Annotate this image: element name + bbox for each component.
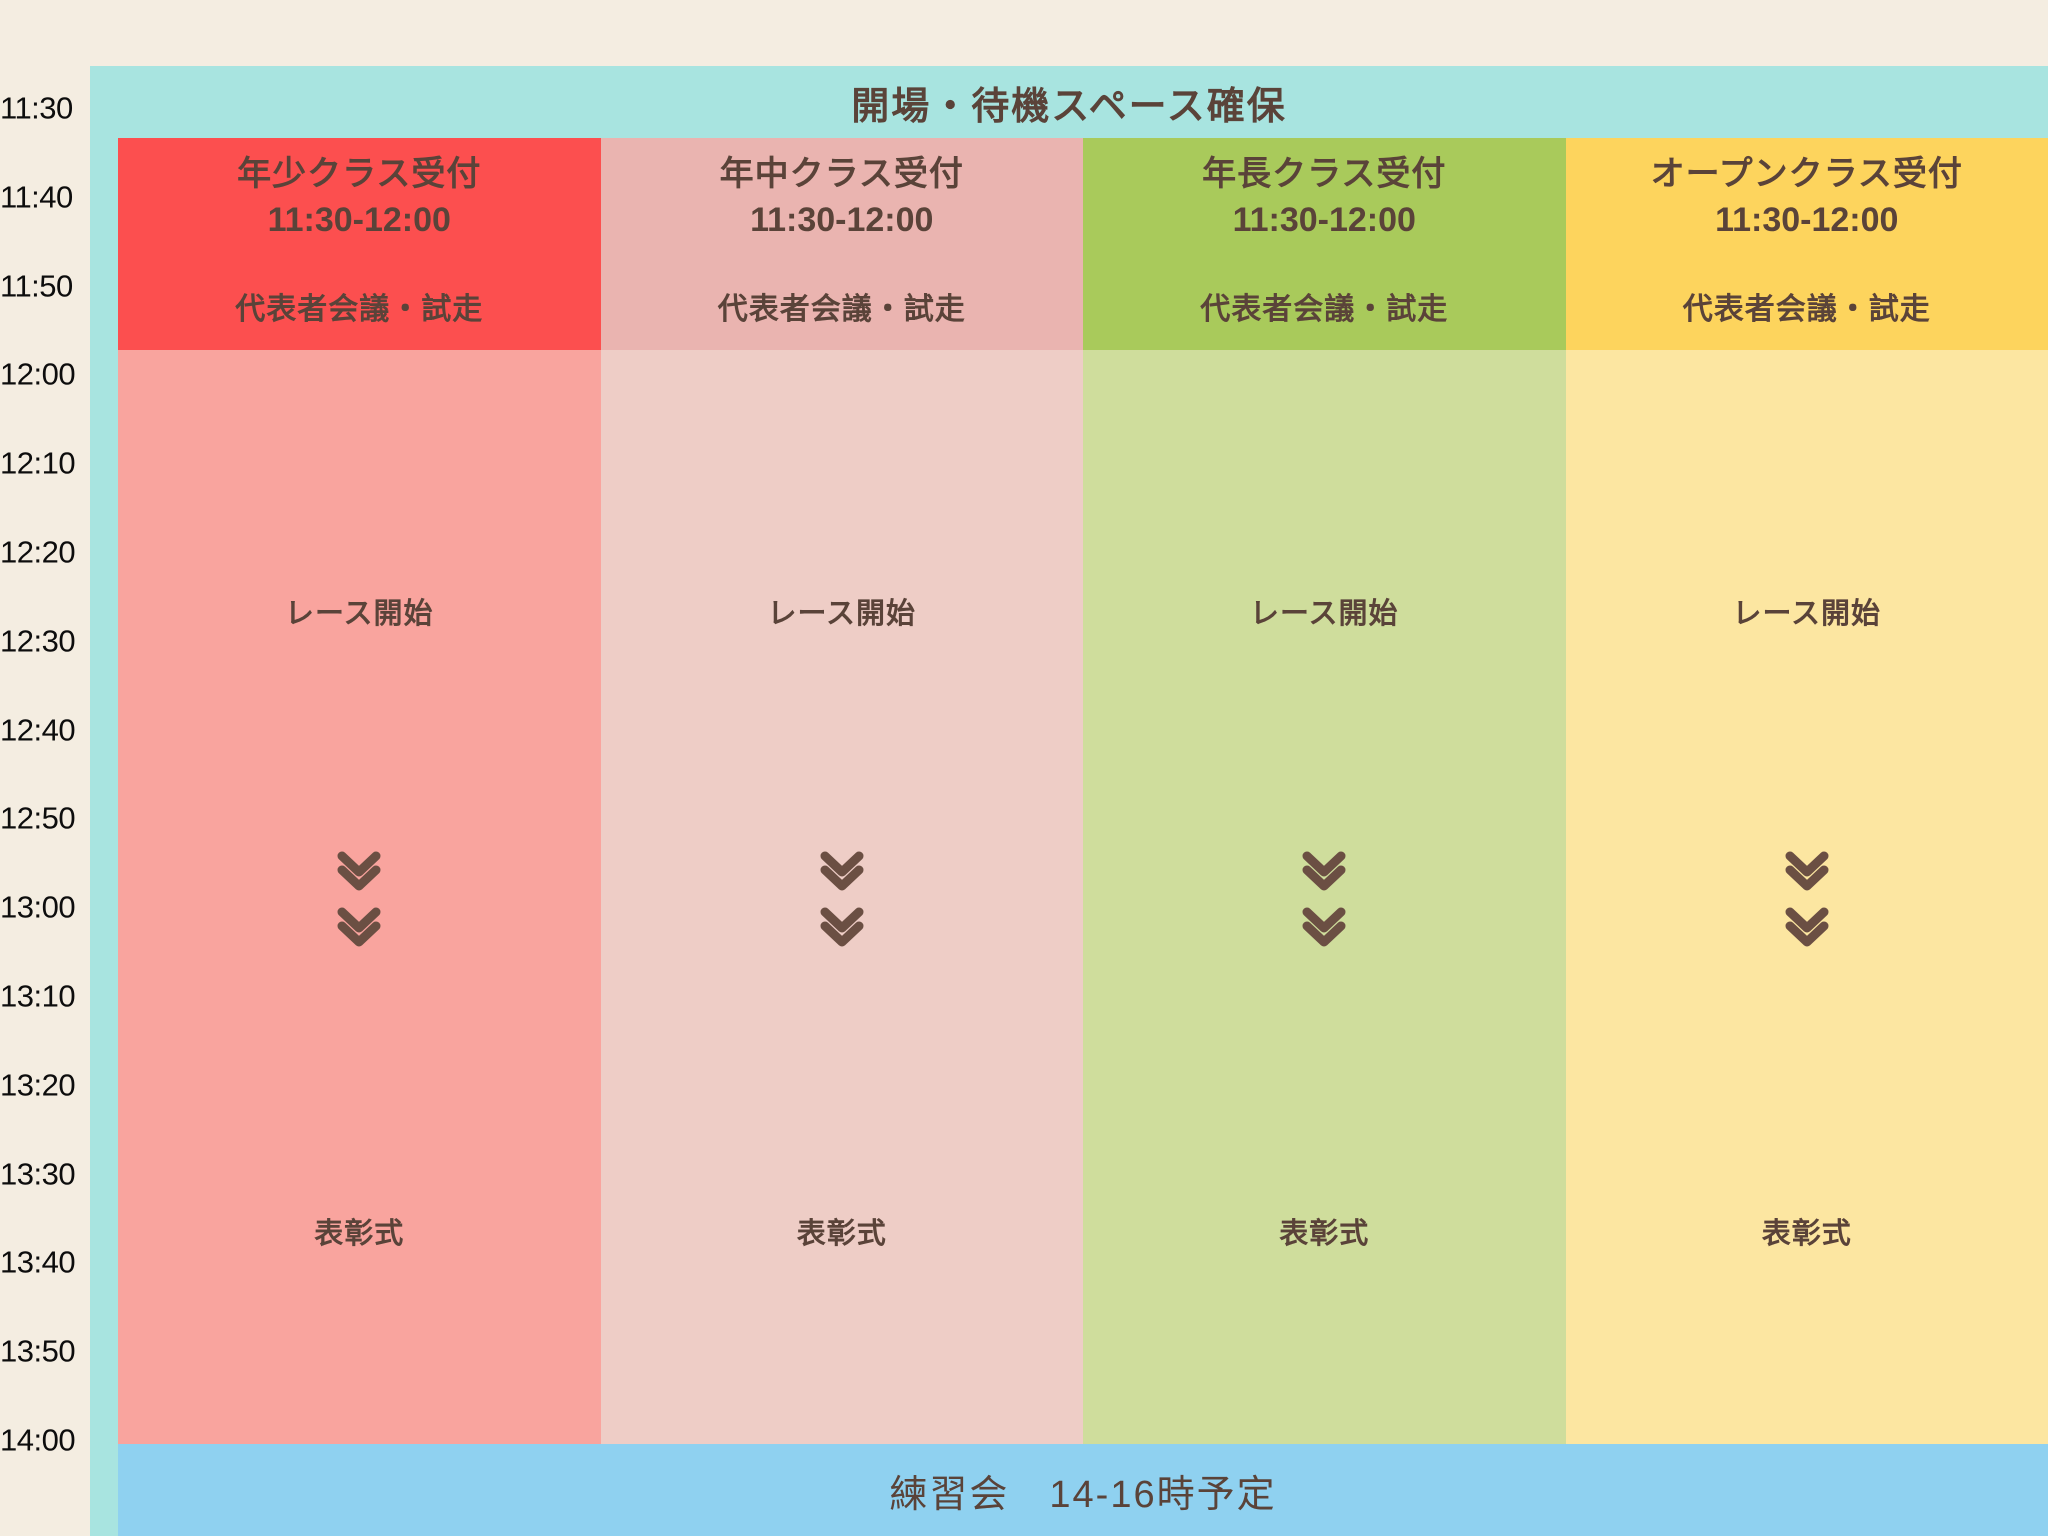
class-column-nensho[interactable]: 年少クラス受付 11:30-12:00 代表者会議・試走 レース開始 表彰式 [118, 138, 601, 1444]
time-axis-label: 12:00 [0, 359, 82, 390]
column-time: 11:30-12:00 [268, 198, 451, 244]
class-column-open[interactable]: オープンクラス受付 11:30-12:00 代表者会議・試走 レース開始 表彰式 [1566, 138, 2048, 1444]
time-axis-label: 11:40 [0, 181, 82, 212]
column-time: 11:30-12:00 [750, 198, 933, 244]
open-header-label: 開場・待機スペース確保 [851, 75, 1286, 130]
class-column-nenchu[interactable]: 年中クラス受付 11:30-12:00 代表者会議・試走 レース開始 表彰式 [601, 138, 1084, 1444]
column-header-nensho: 年少クラス受付 11:30-12:00 代表者会議・試走 [118, 138, 601, 350]
time-axis-label: 12:40 [0, 714, 82, 745]
event-award-ceremony: 表彰式 [118, 1210, 601, 1252]
progress-arrows [1566, 850, 2048, 948]
progress-arrows [1083, 850, 1566, 948]
column-body-nensho: レース開始 表彰式 [118, 350, 601, 1444]
class-column-nencho[interactable]: 年長クラス受付 11:30-12:00 代表者会議・試走 レース開始 表彰式 [1083, 138, 1566, 1444]
class-columns-grid: 年少クラス受付 11:30-12:00 代表者会議・試走 レース開始 表彰式 [118, 138, 2048, 1444]
column-body-nencho: レース開始 表彰式 [1083, 350, 1566, 1444]
double-chevron-down-icon [819, 850, 865, 892]
column-body-nenchu: レース開始 表彰式 [601, 350, 1084, 1444]
time-axis-label: 13:30 [0, 1158, 82, 1189]
column-title: 年少クラス受付 [237, 152, 481, 198]
event-race-start: レース開始 [118, 590, 601, 632]
progress-arrows [118, 850, 601, 948]
time-axis-label: 12:50 [0, 803, 82, 834]
column-subtitle: 代表者会議・試走 [1566, 284, 2048, 328]
double-chevron-down-icon [1301, 850, 1347, 892]
time-axis: 11:3011:4011:5012:0012:1012:2012:3012:40… [0, 0, 90, 1536]
time-axis-label: 14:00 [0, 1425, 82, 1456]
column-header-nenchu: 年中クラス受付 11:30-12:00 代表者会議・試走 [601, 138, 1084, 350]
time-axis-label: 12:30 [0, 625, 82, 656]
event-race-start: レース開始 [1566, 590, 2048, 632]
column-time: 11:30-12:00 [1233, 198, 1416, 244]
column-subtitle: 代表者会議・試走 [118, 284, 601, 328]
column-title: 年長クラス受付 [1202, 152, 1446, 198]
event-award-ceremony: 表彰式 [601, 1210, 1084, 1252]
column-title: 年中クラス受付 [720, 152, 964, 198]
time-axis-label: 12:20 [0, 537, 82, 568]
time-axis-label: 13:20 [0, 1069, 82, 1100]
event-race-start: レース開始 [601, 590, 1084, 632]
event-award-ceremony: 表彰式 [1083, 1210, 1566, 1252]
time-axis-label: 13:10 [0, 981, 82, 1012]
time-axis-label: 13:50 [0, 1336, 82, 1367]
event-race-start: レース開始 [1083, 590, 1566, 632]
column-header-nencho: 年長クラス受付 11:30-12:00 代表者会議・試走 [1083, 138, 1566, 350]
progress-arrows [601, 850, 1084, 948]
column-time: 11:30-12:00 [1715, 198, 1898, 244]
waiting-space-rail [90, 66, 118, 1536]
column-title: オープンクラス受付 [1651, 152, 1963, 198]
time-axis-label: 11:50 [0, 270, 82, 301]
time-axis-label: 12:10 [0, 448, 82, 479]
practice-session-bar: 練習会 14-16時予定 [118, 1444, 2048, 1536]
time-axis-label: 13:40 [0, 1247, 82, 1278]
time-axis-label: 13:00 [0, 892, 82, 923]
double-chevron-down-icon [336, 906, 382, 948]
event-award-ceremony: 表彰式 [1566, 1210, 2048, 1252]
double-chevron-down-icon [819, 906, 865, 948]
time-axis-label: 11:30 [0, 93, 82, 124]
open-header-bar: 開場・待機スペース確保 [90, 66, 2048, 138]
schedule-timetable: 11:3011:4011:5012:0012:1012:2012:3012:40… [0, 0, 2048, 1536]
double-chevron-down-icon [336, 850, 382, 892]
double-chevron-down-icon [1784, 906, 1830, 948]
double-chevron-down-icon [1301, 906, 1347, 948]
double-chevron-down-icon [1784, 850, 1830, 892]
column-subtitle: 代表者会議・試走 [601, 284, 1084, 328]
column-header-open: オープンクラス受付 11:30-12:00 代表者会議・試走 [1566, 138, 2048, 350]
practice-session-label: 練習会 14-16時予定 [889, 1463, 1276, 1518]
column-subtitle: 代表者会議・試走 [1083, 284, 1566, 328]
column-body-open: レース開始 表彰式 [1566, 350, 2048, 1444]
